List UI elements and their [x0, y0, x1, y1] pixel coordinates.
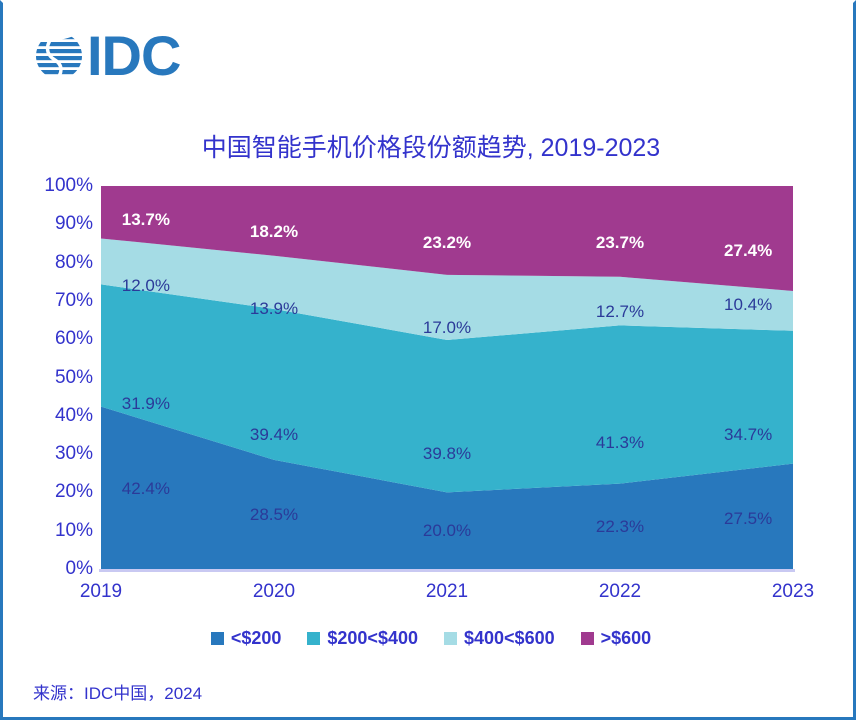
- idc-logo-text: IDC: [87, 30, 180, 82]
- x-axis-tick: 2022: [599, 581, 641, 603]
- legend-swatch-icon: [444, 632, 457, 645]
- legend-label: $200<$400: [327, 628, 418, 649]
- y-axis-tick: 20%: [21, 481, 93, 503]
- y-axis-tick: 80%: [21, 252, 93, 274]
- x-axis: 20192020202120222023: [101, 581, 793, 609]
- legend-swatch-icon: [581, 632, 594, 645]
- legend-swatch-icon: [211, 632, 224, 645]
- y-axis: 0%10%20%30%40%50%60%70%80%90%100%: [21, 186, 93, 569]
- y-axis-tick: 50%: [21, 367, 93, 389]
- x-axis-tick: 2020: [253, 581, 295, 603]
- x-axis-tick: 2019: [80, 581, 122, 603]
- y-axis-tick: 60%: [21, 328, 93, 350]
- x-axis-line: [99, 569, 795, 572]
- chart-page: IDC 中国智能手机价格段份额趋势, 2019-2023 0%10%20%30%…: [0, 0, 856, 720]
- y-axis-tick: 90%: [21, 213, 93, 235]
- x-axis-tick: 2023: [772, 581, 814, 603]
- idc-logo: IDC: [33, 25, 180, 87]
- y-axis-tick: 0%: [21, 558, 93, 580]
- y-axis-tick: 40%: [21, 405, 93, 427]
- legend-item[interactable]: >$600: [581, 628, 652, 649]
- legend-label: >$600: [601, 628, 652, 649]
- chart-legend: <$200$200<$400$400<$600>$600: [3, 628, 856, 649]
- legend-item[interactable]: <$200: [211, 628, 282, 649]
- legend-item[interactable]: $400<$600: [444, 628, 555, 649]
- y-axis-tick: 30%: [21, 443, 93, 465]
- legend-swatch-icon: [307, 632, 320, 645]
- y-axis-tick: 70%: [21, 290, 93, 312]
- legend-label: $400<$600: [464, 628, 555, 649]
- x-axis-tick: 2021: [426, 581, 468, 603]
- source-note: 来源：IDC中国，2024: [33, 679, 202, 704]
- chart-plot-area: 42.4%28.5%20.0%22.3%27.5%31.9%39.4%39.8%…: [101, 186, 793, 569]
- idc-globe-icon: [33, 30, 85, 82]
- legend-label: <$200: [231, 628, 282, 649]
- y-axis-tick: 10%: [21, 520, 93, 542]
- legend-item[interactable]: $200<$400: [307, 628, 418, 649]
- chart-title: 中国智能手机价格段份额趋势, 2019-2023: [3, 128, 856, 164]
- stacked-area-svg: [101, 186, 793, 569]
- y-axis-tick: 100%: [21, 175, 93, 197]
